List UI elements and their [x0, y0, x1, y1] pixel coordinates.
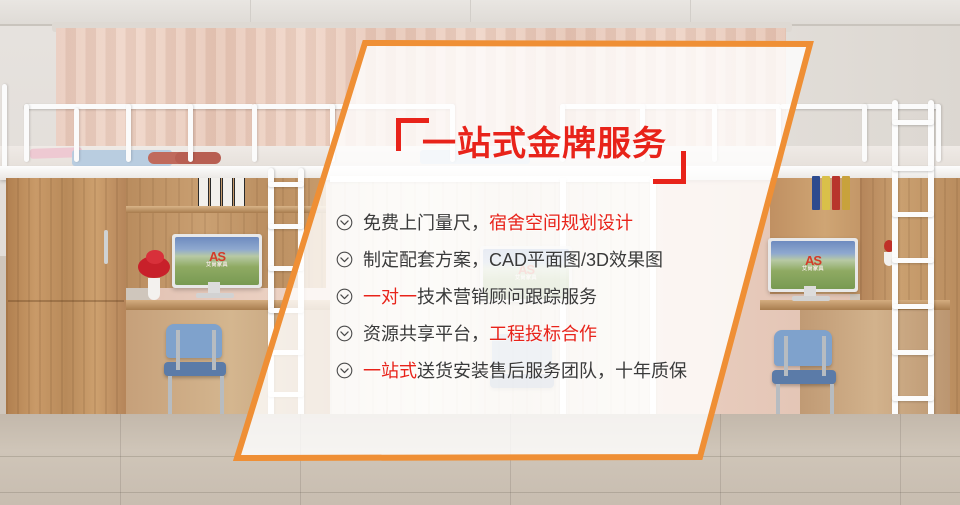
item-plain: 制定配套方案，CAD平面图/3D效果图	[363, 250, 663, 270]
service-list: 免费上门量尺，宿舍空间规划设计 制定配套方案，CAD平面图/3D效果图 一对一技…	[336, 204, 766, 389]
page-title: 一站式金牌服务	[422, 122, 667, 166]
item-plain-tail: 送货安装售后服务团队，十年质保	[417, 361, 687, 381]
item-highlight: 一对一	[363, 287, 417, 307]
item-plain-tail: 技术营销顾问跟踪服务	[417, 287, 597, 307]
list-item-text: 一站式送货安装售后服务团队，十年质保	[363, 361, 687, 381]
item-highlight: 一站式	[363, 361, 417, 381]
chevron-down-circle-icon	[336, 288, 353, 305]
list-item: 资源共享平台，工程投标合作	[336, 315, 766, 352]
chevron-down-circle-icon	[336, 214, 353, 231]
chevron-down-circle-icon	[336, 325, 353, 342]
list-item: 一站式送货安装售后服务团队，十年质保	[336, 352, 766, 389]
item-plain: 资源共享平台，	[363, 324, 489, 344]
promo-content: 一站式金牌服务 免费上门量尺，宿舍空间规划设计 制定配套方案，CAD平面图/3D…	[0, 0, 960, 505]
list-item-text: 制定配套方案，CAD平面图/3D效果图	[363, 250, 663, 270]
list-item-text: 免费上门量尺，宿舍空间规划设计	[363, 213, 633, 233]
list-item-text: 一对一技术营销顾问跟踪服务	[363, 287, 597, 307]
list-item: 一对一技术营销顾问跟踪服务	[336, 278, 766, 315]
chevron-down-circle-icon	[336, 362, 353, 379]
service-promo-banner: AS 艾尚家具 AS	[0, 0, 960, 505]
list-item: 免费上门量尺，宿舍空间规划设计	[336, 204, 766, 241]
title-block: 一站式金牌服务	[396, 118, 686, 184]
list-item-text: 资源共享平台，工程投标合作	[363, 324, 597, 344]
item-highlight: 工程投标合作	[489, 324, 597, 344]
item-highlight: 宿舍空间规划设计	[489, 213, 633, 233]
item-plain: 免费上门量尺，	[363, 213, 489, 233]
chevron-down-circle-icon	[336, 251, 353, 268]
list-item: 制定配套方案，CAD平面图/3D效果图	[336, 241, 766, 278]
